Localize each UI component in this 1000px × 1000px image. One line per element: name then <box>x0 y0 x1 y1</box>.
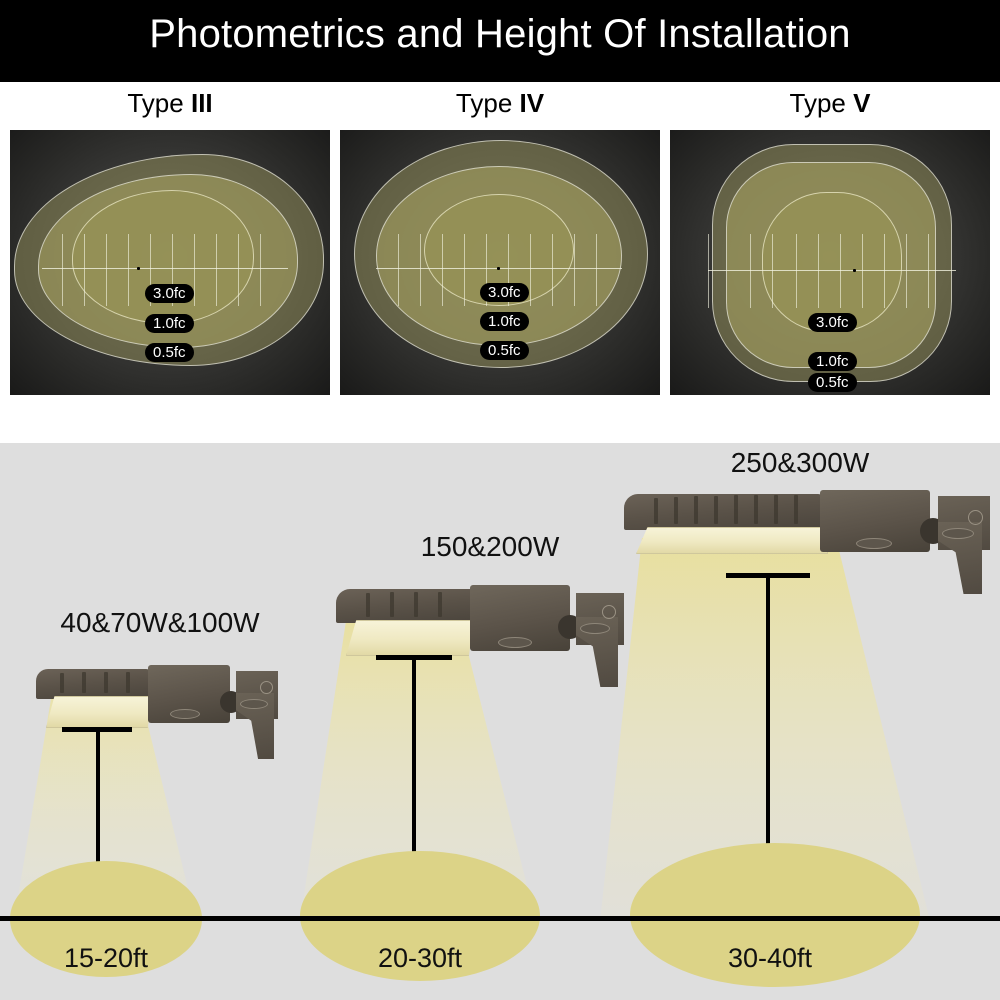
type-heading-4: Type IV <box>340 88 660 119</box>
fc-badge-1-0: 1.0fc <box>808 352 857 371</box>
photometric-panel-type-4: 3.0fc 1.0fc 0.5fc <box>340 130 660 395</box>
center-dot <box>853 269 856 272</box>
fc-badge-1-0: 1.0fc <box>145 314 194 333</box>
fc-badge-3-0: 3.0fc <box>145 284 194 303</box>
fc-badge-3-0: 3.0fc <box>480 283 529 302</box>
led-lens-panel <box>636 527 828 554</box>
type-numeral: IV <box>520 88 545 118</box>
infographic-page: Photometrics and Height Of Installation … <box>0 0 1000 1000</box>
type-numeral: V <box>853 88 870 118</box>
fc-badge-3-0: 3.0fc <box>808 313 857 332</box>
installation-section: 250&300W <box>0 443 1000 1000</box>
wattage-label-40-70-100w: 40&70W&100W <box>10 607 310 639</box>
height-label-30-40ft: 30-40ft <box>670 943 870 974</box>
ground-line <box>0 916 1000 921</box>
title-banner: Photometrics and Height Of Installation <box>0 0 1000 82</box>
height-label-20-30ft: 20-30ft <box>320 943 520 974</box>
wattage-label-250-300w: 250&300W <box>640 447 960 479</box>
type-prefix: Type <box>456 88 512 118</box>
type-heading-3: Type III <box>10 88 330 119</box>
type-prefix: Type <box>127 88 183 118</box>
page-title: Photometrics and Height Of Installation <box>0 12 1000 57</box>
height-label-15-20ft: 15-20ft <box>6 943 206 974</box>
mast-cap-2 <box>376 655 452 660</box>
fc-badge-1-0: 1.0fc <box>480 312 529 331</box>
mast-cap-3 <box>726 573 810 578</box>
type-numeral: III <box>191 88 213 118</box>
center-dot <box>497 267 500 270</box>
photometric-panel-type-3: 3.0fc 1.0fc 0.5fc <box>10 130 330 395</box>
luminaire-150-200w <box>330 571 630 691</box>
fc-badge-0-5: 0.5fc <box>808 373 857 392</box>
wattage-label-150-200w: 150&200W <box>340 531 640 563</box>
center-dot <box>137 267 140 270</box>
fc-badge-0-5: 0.5fc <box>480 341 529 360</box>
fc-badge-0-5: 0.5fc <box>145 343 194 362</box>
type-heading-5: Type V <box>670 88 990 119</box>
type-prefix: Type <box>790 88 846 118</box>
luminaire-250-300w <box>620 478 1000 608</box>
photometrics-section: Type III Type IV Type V <box>0 82 1000 443</box>
led-lens-panel <box>46 696 152 728</box>
mast-cap-1 <box>62 727 132 732</box>
photometric-panel-type-5: 3.0fc 1.0fc 0.5fc <box>670 130 990 395</box>
led-lens-panel <box>346 620 474 656</box>
luminaire-40-70-100w <box>30 649 280 767</box>
